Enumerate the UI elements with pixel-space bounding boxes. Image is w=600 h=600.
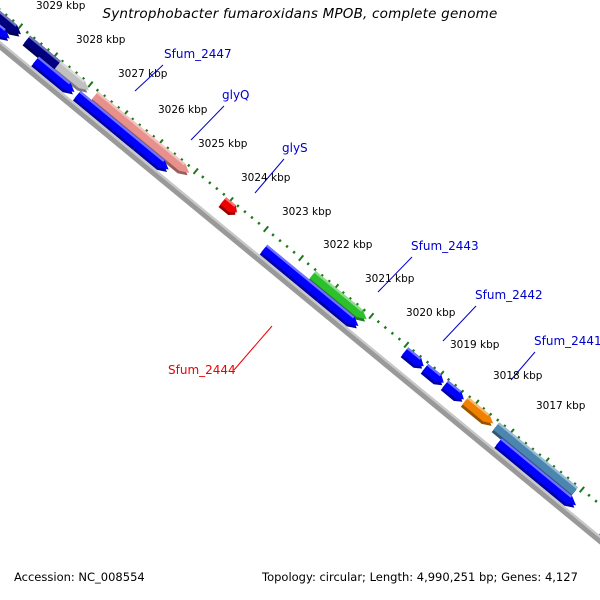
gene-name-label[interactable]: Sfum_2441 xyxy=(534,334,600,348)
genome-stats-label: Topology: circular; Length: 4,990,251 bp… xyxy=(262,570,578,584)
scale-tick-label: 3020 kbp xyxy=(406,307,456,319)
scale-tick-label: 3028 kbp xyxy=(76,34,126,46)
scale-tick-label: 3023 kbp xyxy=(282,206,332,218)
scale-tick-label: 3018 kbp xyxy=(493,370,543,382)
gene-name-label[interactable]: Sfum_2442 xyxy=(475,288,543,302)
gene-name-label[interactable]: Sfum_2447 xyxy=(164,47,232,61)
gene-feature[interactable] xyxy=(219,197,238,215)
scale-tick-labels: 3029 kbp3028 kbp3027 kbp3026 kbp3025 kbp… xyxy=(36,0,586,412)
gene-name-label[interactable]: glyQ xyxy=(222,88,250,102)
scale-tick-label: 3026 kbp xyxy=(158,104,208,116)
genome-map-viewer: 3029 kbp3028 kbp3027 kbp3026 kbp3025 kbp… xyxy=(0,0,600,600)
footer-bar: Accession: NC_008554 Topology: circular;… xyxy=(0,570,600,592)
accession-label: Accession: NC_008554 xyxy=(14,570,145,584)
gene-name-label[interactable]: glyS xyxy=(282,141,308,155)
scale-tick-label: 3021 kbp xyxy=(365,273,415,285)
page-title: Syntrophobacter fumaroxidans MPOB, compl… xyxy=(0,6,600,22)
scale-tick-label: 3027 kbp xyxy=(118,68,168,80)
gene-feature[interactable] xyxy=(441,380,464,401)
scale-tick-label: 3022 kbp xyxy=(323,239,373,251)
scale-tick-label: 3017 kbp xyxy=(536,400,586,412)
gene-name-label[interactable]: Sfum_2444 xyxy=(168,363,236,377)
scale-tick-label: 3019 kbp xyxy=(450,339,500,351)
scale-tick-label: 3025 kbp xyxy=(198,138,248,150)
gene-name-label[interactable]: Sfum_2443 xyxy=(411,239,479,253)
scale-tick-label: 3024 kbp xyxy=(241,172,291,184)
gene-feature[interactable] xyxy=(421,364,444,385)
gene-feature[interactable] xyxy=(494,438,576,508)
genome-map-canvas[interactable]: 3029 kbp3028 kbp3027 kbp3026 kbp3025 kbp… xyxy=(0,0,600,600)
